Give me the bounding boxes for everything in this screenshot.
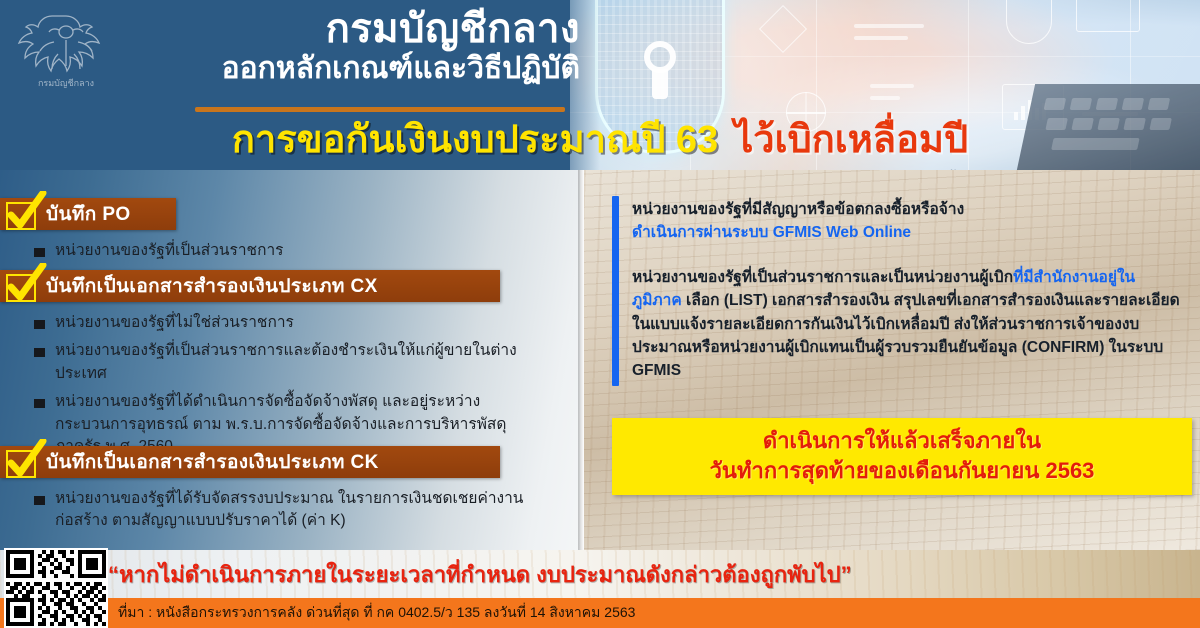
- section-header-po: บันทึก PO: [0, 198, 176, 230]
- source-reference: ที่มา : หนังสือกระทรวงการคลัง ด่วนที่สุด…: [118, 598, 635, 628]
- headline-red-part: ไว้เบิกเหลื่อมปี: [734, 108, 968, 169]
- org-subtitle: ออกหลักเกณฑ์และวิธีปฏิบัติ: [120, 52, 580, 87]
- headline-yellow-part: การขอกันเงินงบประมาณปี 63: [232, 108, 718, 169]
- qr-code[interactable]: [4, 548, 108, 628]
- section-label: บันทึกเป็นเอกสารสำรองเงินประเภท CK: [46, 447, 379, 477]
- garuda-emblem-logo: กรมบัญชีกลาง: [14, 6, 118, 102]
- logo-caption: กรมบัญชีกลาง: [38, 78, 94, 88]
- user-card-icon: [1076, 0, 1140, 32]
- paragraph-segment: เลือก (LIST) เอกสารสำรองเงิน สรุปเลขที่เ…: [632, 292, 1180, 379]
- bullet-square-icon: [34, 320, 45, 329]
- section-label: บันทึก PO: [46, 199, 131, 229]
- hex-badge-icon: [759, 5, 807, 53]
- paragraph-line: หน่วยงานของรัฐที่มีสัญญาหรือข้อตกลงซื้อห…: [632, 198, 1184, 221]
- bullet-list-ck: หน่วยงานของรัฐที่ได้รับจัดสรรงบประมาณ ใน…: [34, 488, 544, 539]
- section-header-ck: บันทึกเป็นเอกสารสำรองเงินประเภท CK: [0, 446, 500, 478]
- org-title: กรมบัญชีกลาง: [120, 8, 580, 50]
- bullet-square-icon: [34, 248, 45, 257]
- right-panel-content: หน่วยงานของรัฐที่มีสัญญาหรือข้อตกลงซื้อห…: [584, 170, 1200, 550]
- list-item: หน่วยงานของรัฐที่ได้รับจัดสรรงบประมาณ ใน…: [34, 488, 544, 533]
- checkbox-checked-icon: [6, 441, 46, 483]
- list-item: หน่วยงานของรัฐที่ไม่ใช่ส่วนราชการ: [34, 312, 534, 334]
- bullet-text: หน่วยงานของรัฐที่ได้รับจัดสรรงบประมาณ ใน…: [55, 488, 544, 533]
- bullet-square-icon: [34, 399, 45, 408]
- bullet-text: หน่วยงานของรัฐที่ไม่ใช่ส่วนราชการ: [55, 312, 294, 334]
- blue-accent-bar: [612, 196, 619, 386]
- left-panel-content: บันทึก PO หน่วยงานของรัฐที่เป็นส่วนราชกา…: [0, 170, 580, 550]
- list-item: หน่วยงานของรัฐที่เป็นส่วนราชการและต้องชำ…: [34, 340, 534, 385]
- deadline-line-1: ดำเนินการให้แล้วเสร็จภายใน: [622, 426, 1182, 456]
- right-paragraph-1: หน่วยงานของรัฐที่มีสัญญาหรือข้อตกลงซื้อห…: [632, 198, 1184, 245]
- checkbox-checked-icon: [6, 265, 46, 307]
- right-paragraph-2: หน่วยงานของรัฐที่เป็นส่วนราชการและเป็นหน…: [632, 266, 1184, 382]
- header-title-block: กรมบัญชีกลาง ออกหลักเกณฑ์และวิธีปฏิบัติ: [120, 8, 580, 87]
- bullet-list-cx: หน่วยงานของรัฐที่ไม่ใช่ส่วนราชการ หน่วยง…: [34, 312, 534, 465]
- section-header-cx: บันทึกเป็นเอกสารสำรองเงินประเภท CX: [0, 270, 500, 302]
- warning-quote: “หากไม่ดำเนินการภายในระยะเวลาที่กำหนด งบ…: [108, 550, 1200, 598]
- deadline-callout: ดำเนินการให้แล้วเสร็จภายใน วันทำการสุดท้…: [612, 418, 1192, 495]
- paragraph-segment: หน่วยงานของรัฐที่เป็นส่วนราชการและเป็นหน…: [632, 269, 1013, 286]
- deadline-line-2: วันทำการสุดท้ายของเดือนกันยายน 2563: [622, 456, 1182, 486]
- bullet-square-icon: [34, 496, 45, 505]
- bullet-text: หน่วยงานของรัฐที่เป็นส่วนราชการ: [55, 240, 284, 262]
- section-label: บันทึกเป็นเอกสารสำรองเงินประเภท CX: [46, 271, 378, 301]
- headline: การขอกันเงินงบประมาณปี 63 ไว้เบิกเหลื่อม…: [0, 113, 1200, 163]
- bullet-list-po: หน่วยงานของรัฐที่เป็นส่วนราชการ: [34, 240, 542, 268]
- lock-badge-icon: [1006, 0, 1052, 44]
- list-item: หน่วยงานของรัฐที่เป็นส่วนราชการ: [34, 240, 542, 262]
- checkbox-checked-icon: [6, 193, 46, 235]
- header-banner: กรมบัญชีกลาง กรมบัญชีกลาง ออกหลักเกณฑ์แล…: [0, 0, 1200, 170]
- bullet-square-icon: [34, 348, 45, 357]
- bullet-text: หน่วยงานของรัฐที่เป็นส่วนราชการและต้องชำ…: [55, 340, 534, 385]
- paragraph-line-highlight: ดำเนินการผ่านระบบ GFMIS Web Online: [632, 221, 1184, 244]
